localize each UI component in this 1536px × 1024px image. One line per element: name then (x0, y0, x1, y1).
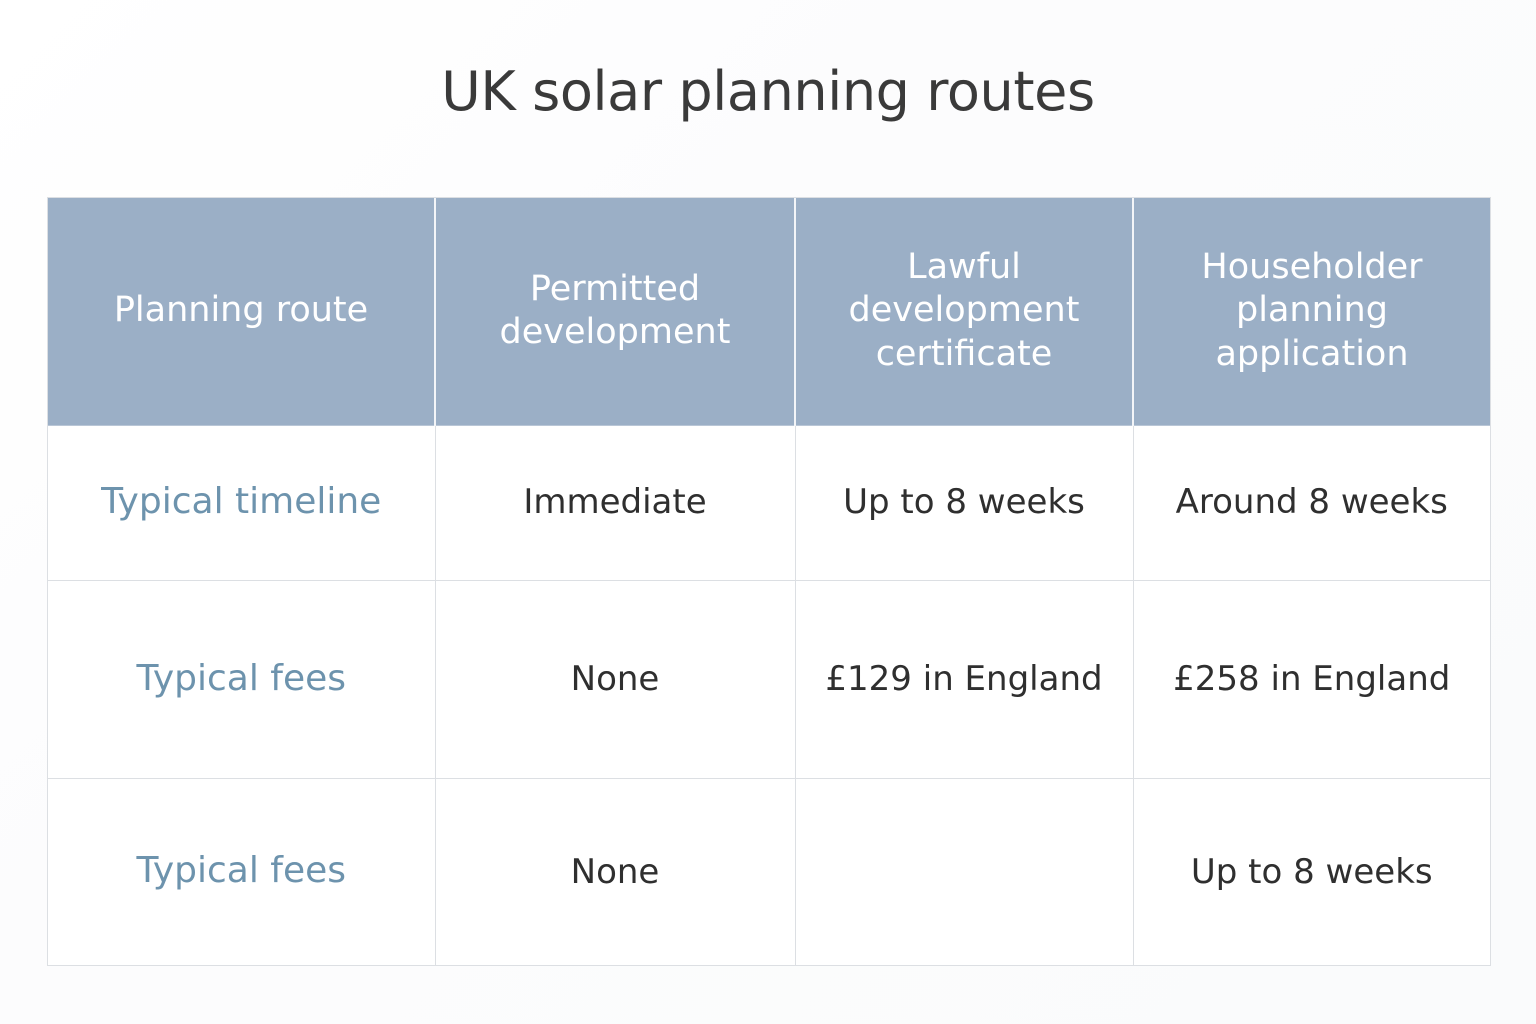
cell-lawful-development-certificate-fees: £129 in England (795, 580, 1133, 778)
row-label-typical-fees-secondary: Typical fees (48, 778, 435, 965)
cell-lawful-development-certificate-timeline: Up to 8 weeks (795, 425, 1133, 580)
cell-householder-planning-application-timeline: Around 8 weeks (1133, 425, 1490, 580)
routes-table-container: Planning route Permitted development Law… (48, 198, 1490, 965)
table-header: Planning route Permitted development Law… (48, 198, 1490, 425)
column-header-lawful-development-certificate: Lawful development certificate (795, 198, 1133, 425)
cell-permitted-development-timeline: Immediate (435, 425, 795, 580)
row-label-typical-timeline: Typical timeline (48, 425, 435, 580)
cell-lawful-development-certificate-fees-secondary (795, 778, 1133, 965)
cell-permitted-development-fees-secondary: None (435, 778, 795, 965)
column-header-planning-route: Planning route (48, 198, 435, 425)
page-title: UK solar planning routes (0, 62, 1536, 121)
table-body: Typical timeline Immediate Up to 8 weeks… (48, 425, 1490, 965)
cell-householder-planning-application-fees: £258 in England (1133, 580, 1490, 778)
routes-table: Planning route Permitted development Law… (48, 198, 1490, 965)
table-row: Typical timeline Immediate Up to 8 weeks… (48, 425, 1490, 580)
table-row: Typical fees None £129 in England £258 i… (48, 580, 1490, 778)
cell-householder-planning-application-fees-secondary: Up to 8 weeks (1133, 778, 1490, 965)
column-header-householder-planning-application: Householder planning application (1133, 198, 1490, 425)
row-label-typical-fees: Typical fees (48, 580, 435, 778)
table-row: Typical fees None Up to 8 weeks (48, 778, 1490, 965)
cell-permitted-development-fees: None (435, 580, 795, 778)
page-root: UK solar planning routes Planning route … (0, 0, 1536, 1024)
header-row: Planning route Permitted development Law… (48, 198, 1490, 425)
column-header-permitted-development: Permitted development (435, 198, 795, 425)
